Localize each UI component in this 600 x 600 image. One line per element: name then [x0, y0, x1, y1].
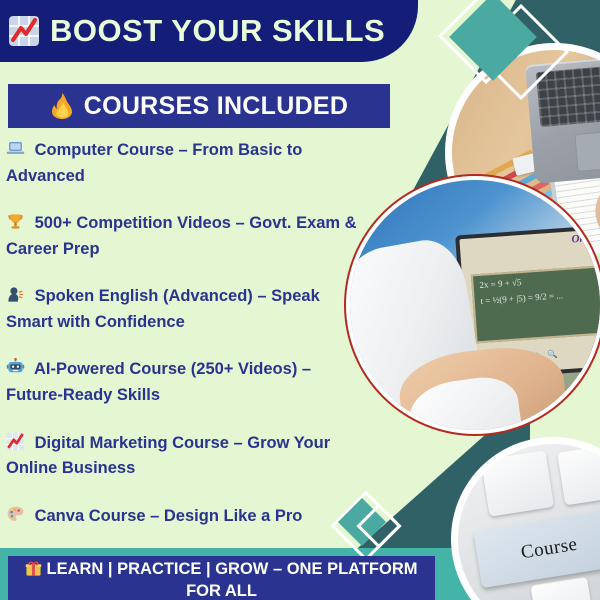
course-item-competition-label: 500+ Competition Videos – Govt. Exam & C…: [6, 214, 357, 258]
course-item-ai-label: AI-Powered Course (250+ Videos) – Future…: [6, 360, 311, 404]
keyboard-photo-art: Course: [458, 444, 600, 600]
header-bar: BOOST YOUR SKILLS: [0, 0, 418, 62]
chart-increasing-icon: [6, 432, 25, 451]
course-item-spoken-english-label: Spoken English (Advanced) – Speak Smart …: [6, 287, 320, 331]
keyboard-key-upper-left: [481, 451, 554, 517]
course-item-digital-marketing-label: Digital Marketing Course – Grow Your Onl…: [6, 434, 330, 478]
course-item-computer: Computer Course – From Basic to Advanced: [6, 138, 358, 189]
course-item-digital-marketing: Digital Marketing Course – Grow Your Onl…: [6, 431, 358, 482]
keyboard-course-key-label: Course: [519, 533, 579, 564]
page-title: BOOST YOUR SKILLS: [50, 13, 385, 49]
online-chalkboard: 2x = 9 + √5 t = ½(9 + |5) = 9/2 = ...: [471, 265, 600, 344]
keyboard-course-key: Course: [473, 509, 600, 588]
courses-included-title: COURSES INCLUDED: [84, 92, 349, 121]
poster-canvas: Online 2x = 9 + √5 t = ½(9 + |5) = 9/2 =…: [0, 0, 600, 600]
online-learning-photo-art: Online 2x = 9 + √5 t = ½(9 + |5) = 9/2 =…: [350, 180, 600, 430]
gift-icon: [25, 560, 42, 577]
keyboard-key-upper-right: [557, 444, 600, 505]
online-screen-title: Online: [459, 229, 600, 253]
course-item-canva-label: Canva Course – Design Like a Pro: [35, 507, 303, 525]
keyboard-key-lower: [530, 577, 594, 600]
speaking-head-icon: [6, 285, 25, 304]
course-item-ai: AI-Powered Course (250+ Videos) – Future…: [6, 357, 358, 408]
robot-icon: [6, 358, 25, 377]
bottom-cta-banner: LEARN | PRACTICE | GROW – ONE PLATFORM F…: [8, 556, 435, 600]
bottom-cta-text: LEARN | PRACTICE | GROW – ONE PLATFORM F…: [46, 560, 417, 600]
course-item-computer-label: Computer Course – From Basic to Advanced: [6, 141, 302, 185]
bottom-cta-text-wrapper: LEARN | PRACTICE | GROW – ONE PLATFORM F…: [8, 558, 435, 600]
course-item-canva: Canva Course – Design Like a Pro: [6, 504, 358, 530]
online-learning-photo-circle: Online 2x = 9 + √5 t = ½(9 + |5) = 9/2 =…: [350, 180, 600, 430]
trophy-icon: [6, 212, 25, 231]
courses-included-banner: COURSES INCLUDED: [8, 84, 390, 128]
course-list: Computer Course – From Basic to Advanced…: [6, 138, 358, 551]
course-item-spoken-english: Spoken English (Advanced) – Speak Smart …: [6, 284, 358, 335]
course-item-competition: 500+ Competition Videos – Govt. Exam & C…: [6, 211, 358, 262]
chart-increasing-icon: [8, 15, 40, 47]
keyboard-photo-circle: Course: [458, 444, 600, 600]
artist-palette-icon: [6, 505, 25, 524]
fire-icon: [50, 93, 74, 119]
desk-laptop-trackpad: [574, 128, 600, 172]
laptop-icon: [6, 139, 25, 158]
